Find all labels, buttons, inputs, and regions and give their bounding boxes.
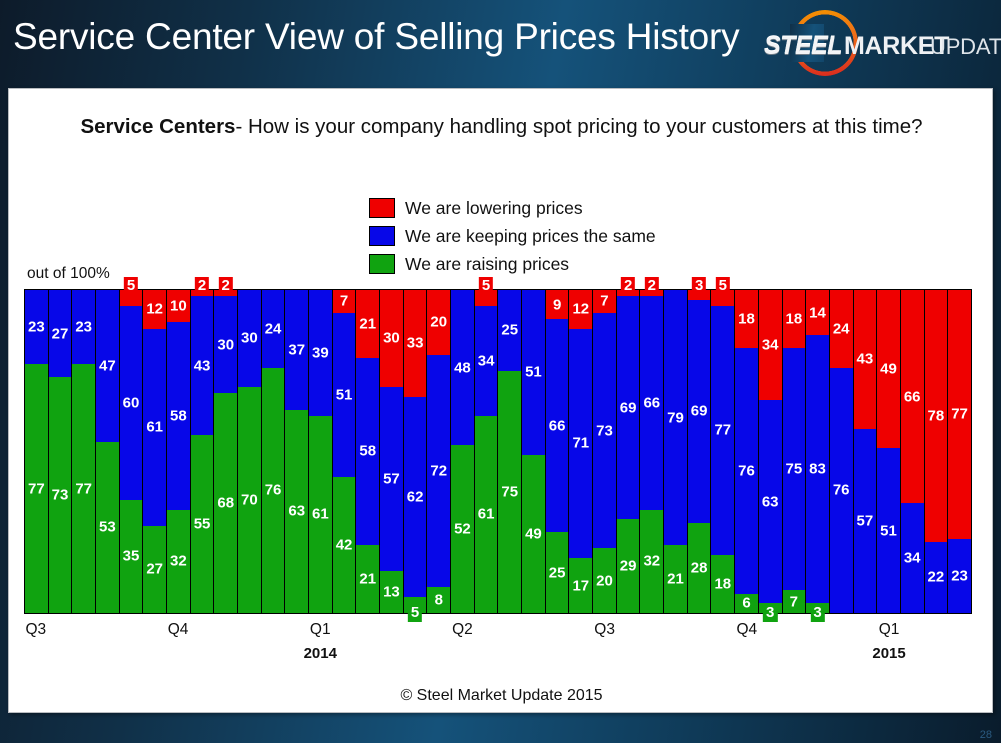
- bar-column[interactable]: 2377: [72, 290, 96, 613]
- bar-value-label: 73: [596, 423, 613, 438]
- bar-segment-raising: 77: [25, 364, 48, 613]
- bar-segment-raising: 70: [238, 387, 261, 613]
- logo-word-update: UPDATE: [930, 34, 1001, 60]
- bar-segment-raising: 52: [451, 445, 474, 613]
- bar-segment-keeping: 69: [688, 300, 711, 523]
- x-tick-quarter: Q4: [168, 621, 189, 639]
- stacked-bar-plot: 2377277323774753560351261271058322435523…: [24, 289, 972, 614]
- bar-segment-keeping: 23: [948, 539, 971, 613]
- bar-column[interactable]: 36928: [688, 290, 712, 613]
- bar-value-label: 77: [75, 481, 92, 496]
- bar-column[interactable]: 75142: [333, 290, 357, 613]
- bar-value-label: 25: [501, 323, 518, 338]
- bar-value-label: 30: [217, 337, 234, 352]
- bar-value-label: 23: [75, 320, 92, 335]
- bar-value-label: 27: [52, 326, 69, 341]
- bar-segment-raising: 13: [380, 571, 403, 613]
- bar-segment-keeping: 22: [925, 542, 948, 613]
- bar-value-label: 73: [52, 488, 69, 503]
- bar-segment-keeping: 57: [380, 387, 403, 571]
- bar-value-label: 3: [692, 277, 706, 295]
- bar-segment-keeping: 69: [617, 296, 640, 519]
- bar-segment-raising: 8: [427, 587, 450, 613]
- bar-column[interactable]: 2476: [262, 290, 286, 613]
- x-tick-quarter: Q1: [310, 621, 331, 639]
- bar-value-label: 57: [383, 471, 400, 486]
- bar-value-label: 76: [833, 483, 850, 498]
- bar-value-label: 34: [904, 551, 921, 566]
- bar-segment-lowering: 24: [830, 290, 853, 368]
- bar-segment-raising: 75: [498, 371, 521, 613]
- bar-segment-lowering: 30: [380, 290, 403, 387]
- bar-value-label: 39: [312, 345, 329, 360]
- bar-segment-keeping: 79: [664, 290, 687, 545]
- x-tick-year: 2015: [872, 645, 905, 662]
- bar-segment-raising: 61: [309, 416, 332, 613]
- bar-column[interactable]: 77320: [593, 290, 617, 613]
- bar-value-label: 55: [194, 517, 211, 532]
- bar-segment-lowering: 5: [711, 290, 734, 306]
- x-axis: Q3Q4Q12014Q2Q3Q4Q12015: [24, 621, 972, 679]
- bar-value-label: 5: [479, 277, 493, 295]
- bar-value-label: 30: [383, 331, 400, 346]
- bar-segment-keeping: 39: [309, 290, 332, 416]
- bar-segment-keeping: 34: [901, 503, 924, 613]
- bar-segment-raising: 6: [735, 594, 758, 613]
- bar-segment-keeping: 23: [25, 290, 48, 364]
- bar-column[interactable]: 2476: [830, 290, 854, 613]
- bar-value-label: 23: [28, 320, 45, 335]
- bar-segment-lowering: 33: [404, 290, 427, 397]
- bar-column[interactable]: 14833: [806, 290, 830, 613]
- bar-column[interactable]: 24355: [191, 290, 215, 613]
- bar-segment-keeping: 63: [759, 400, 782, 603]
- bar-value-label: 34: [478, 354, 495, 369]
- bar-value-label: 34: [762, 337, 779, 352]
- bar-value-label: 8: [435, 593, 443, 608]
- bar-column[interactable]: 18766: [735, 290, 759, 613]
- bar-value-label: 69: [620, 400, 637, 415]
- bar-value-label: 27: [146, 562, 163, 577]
- bar-value-label: 5: [124, 277, 138, 295]
- bar-value-label: 33: [407, 336, 424, 351]
- bar-segment-raising: 28: [688, 523, 711, 613]
- bar-column[interactable]: 4753: [96, 290, 120, 613]
- bar-segment-keeping: 71: [569, 329, 592, 558]
- bar-segment-keeping: 62: [404, 397, 427, 597]
- bar-value-label: 2: [645, 277, 659, 295]
- bar-segment-raising: 25: [546, 532, 569, 613]
- bar-segment-lowering: 18: [735, 290, 758, 348]
- bar-value-label: 75: [785, 462, 802, 477]
- bar-segment-keeping: 30: [238, 290, 261, 387]
- bar-segment-keeping: 57: [854, 429, 877, 613]
- bar-value-label: 66: [549, 418, 566, 433]
- page-number: 28: [980, 729, 992, 741]
- bar-segment-lowering: 20: [427, 290, 450, 355]
- bar-value-label: 60: [123, 396, 140, 411]
- bar-value-label: 49: [525, 526, 542, 541]
- bar-value-label: 43: [194, 358, 211, 373]
- bar-segment-raising: 32: [167, 510, 190, 613]
- copyright-text: © Steel Market Update 2015: [9, 687, 994, 705]
- bar-segment-lowering: 49: [877, 290, 900, 448]
- bar-segment-raising: 35: [120, 500, 143, 613]
- bar-value-label: 5: [408, 604, 422, 622]
- chart-legend: We are lowering pricesWe are keeping pri…: [369, 194, 656, 278]
- bar-column[interactable]: 5149: [522, 290, 546, 613]
- bar-column[interactable]: 7723: [948, 290, 971, 613]
- bar-value-label: 24: [265, 321, 282, 336]
- bar-segment-raising: 27: [143, 526, 166, 613]
- bar-segment-raising: 73: [49, 377, 72, 613]
- bar-segment-keeping: 51: [877, 448, 900, 613]
- bar-value-label: 76: [738, 463, 755, 478]
- bar-value-label: 32: [170, 554, 187, 569]
- bar-column[interactable]: 4951: [877, 290, 901, 613]
- bar-value-label: 2: [621, 277, 635, 295]
- bar-segment-keeping: 61: [143, 329, 166, 526]
- bar-segment-lowering: 78: [925, 290, 948, 542]
- x-tick-quarter: Q3: [26, 621, 47, 639]
- bar-value-label: 83: [809, 462, 826, 477]
- bar-column[interactable]: 34633: [759, 290, 783, 613]
- chart-card: Service Centers- How is your company han…: [8, 88, 993, 713]
- chart-question-emphasis: Service Centers: [80, 115, 235, 138]
- slide-header: Service Center View of Selling Prices Hi…: [0, 0, 1001, 86]
- bar-value-label: 18: [785, 312, 802, 327]
- bar-segment-lowering: 5: [475, 290, 498, 306]
- bar-segment-lowering: 34: [759, 290, 782, 400]
- bar-value-label: 13: [383, 584, 400, 599]
- bar-value-label: 58: [359, 444, 376, 459]
- bar-segment-keeping: 58: [356, 358, 379, 545]
- bar-column[interactable]: 26632: [640, 290, 664, 613]
- slide: Service Center View of Selling Prices Hi…: [0, 0, 1001, 743]
- bar-value-label: 12: [572, 302, 589, 317]
- legend-label-keeping: We are keeping prices the same: [405, 226, 656, 247]
- bar-segment-raising: 18: [711, 555, 734, 613]
- bar-segment-raising: 42: [333, 477, 356, 613]
- bar-value-label: 66: [904, 389, 921, 404]
- bar-segment-raising: 3: [806, 603, 829, 613]
- bar-value-label: 25: [549, 565, 566, 580]
- bar-value-label: 24: [833, 321, 850, 336]
- bar-segment-keeping: 73: [593, 313, 616, 549]
- bar-value-label: 51: [880, 523, 897, 538]
- bar-value-label: 20: [596, 573, 613, 588]
- bar-column[interactable]: 26929: [617, 290, 641, 613]
- bar-segment-raising: 76: [262, 368, 285, 613]
- bar-segment-keeping: 76: [735, 348, 758, 593]
- bar-segment-lowering: 77: [948, 290, 971, 539]
- bar-segment-keeping: 23: [72, 290, 95, 364]
- bar-column[interactable]: 2377: [25, 290, 49, 613]
- bar-segment-keeping: 48: [451, 290, 474, 445]
- chart-question: Service Centers- How is your company han…: [9, 113, 994, 141]
- bar-value-label: 63: [288, 504, 305, 519]
- bar-value-label: 7: [790, 594, 798, 609]
- bar-value-label: 28: [691, 560, 708, 575]
- bar-segment-raising: 17: [569, 558, 592, 613]
- bar-value-label: 52: [454, 522, 471, 537]
- bar-column[interactable]: 57718: [711, 290, 735, 613]
- bar-value-label: 42: [336, 538, 353, 553]
- bar-value-label: 48: [454, 360, 471, 375]
- steel-market-update-logo: STEEL MARKET UPDATE: [764, 4, 1000, 82]
- bar-value-label: 5: [716, 277, 730, 295]
- bar-value-label: 18: [714, 576, 731, 591]
- bar-segment-lowering: 12: [569, 290, 592, 329]
- bar-value-label: 20: [430, 315, 447, 330]
- bar-segment-lowering: 43: [854, 290, 877, 429]
- bar-value-label: 71: [572, 436, 589, 451]
- bar-segment-lowering: 3: [688, 290, 711, 300]
- bar-value-label: 3: [810, 604, 824, 622]
- bar-value-label: 6: [742, 596, 750, 611]
- bar-value-label: 35: [123, 549, 140, 564]
- bar-segment-keeping: 51: [522, 290, 545, 455]
- bar-segment-raising: 21: [664, 545, 687, 613]
- bar-segment-raising: 3: [759, 603, 782, 613]
- x-tick-quarter: Q1: [879, 621, 900, 639]
- legend-label-lowering: We are lowering prices: [405, 198, 583, 219]
- bar-value-label: 9: [553, 297, 561, 312]
- bar-value-label: 29: [620, 559, 637, 574]
- bar-segment-keeping: 58: [167, 322, 190, 509]
- bar-segment-lowering: 7: [333, 290, 356, 313]
- x-tick-quarter: Q3: [594, 621, 615, 639]
- bar-value-label: 30: [241, 331, 258, 346]
- legend-item-raising[interactable]: We are raising prices: [369, 250, 656, 278]
- bar-segment-lowering: 21: [356, 290, 379, 358]
- logo-word-steel: STEEL: [764, 32, 842, 61]
- bar-segment-keeping: 43: [191, 296, 214, 435]
- legend-item-lowering[interactable]: We are lowering prices: [369, 194, 656, 222]
- bar-segment-keeping: 47: [96, 290, 119, 442]
- bar-segment-keeping: 76: [830, 368, 853, 613]
- bar-segment-keeping: 37: [285, 290, 308, 410]
- bar-value-label: 43: [857, 352, 874, 367]
- bar-column[interactable]: 2575: [498, 290, 522, 613]
- bar-segment-lowering: 7: [593, 290, 616, 313]
- legend-item-keeping[interactable]: We are keeping prices the same: [369, 222, 656, 250]
- bar-column[interactable]: 7921: [664, 290, 688, 613]
- bar-segment-raising: 53: [96, 442, 119, 613]
- bar-value-label: 57: [857, 513, 874, 528]
- bar-value-label: 79: [667, 410, 684, 425]
- legend-swatch-raising: [369, 254, 395, 274]
- bar-column[interactable]: 6634: [901, 290, 925, 613]
- bar-value-label: 77: [714, 423, 731, 438]
- bar-segment-keeping: 77: [711, 306, 734, 555]
- bar-value-label: 77: [951, 407, 968, 422]
- bar-segment-keeping: 75: [783, 348, 806, 590]
- bar-column[interactable]: 3070: [238, 290, 262, 613]
- bar-segment-lowering: 14: [806, 290, 829, 335]
- bar-column[interactable]: 7822: [925, 290, 949, 613]
- bar-segment-raising: 29: [617, 519, 640, 613]
- bar-column[interactable]: 127117: [569, 290, 593, 613]
- bar-column[interactable]: 3961: [309, 290, 333, 613]
- bar-column[interactable]: 23068: [214, 290, 238, 613]
- bar-column[interactable]: 96625: [546, 290, 570, 613]
- bar-column[interactable]: 56035: [120, 290, 144, 613]
- bar-value-label: 61: [146, 420, 163, 435]
- bar-segment-raising: 55: [191, 435, 214, 613]
- bar-column[interactable]: 305713: [380, 290, 404, 613]
- bar-column[interactable]: 3763: [285, 290, 309, 613]
- bar-value-label: 61: [478, 507, 495, 522]
- y-axis-note: out of 100%: [27, 265, 110, 283]
- bar-segment-keeping: 66: [546, 319, 569, 532]
- bar-value-label: 47: [99, 358, 116, 373]
- legend-label-raising: We are raising prices: [405, 254, 569, 275]
- bar-value-label: 63: [762, 494, 779, 509]
- bar-value-label: 76: [265, 483, 282, 498]
- bar-value-label: 14: [809, 305, 826, 320]
- bar-column[interactable]: 215821: [356, 290, 380, 613]
- bar-value-label: 72: [430, 463, 447, 478]
- bar-value-label: 62: [407, 489, 424, 504]
- bar-column[interactable]: 53461: [475, 290, 499, 613]
- bar-segment-lowering: 18: [783, 290, 806, 348]
- bar-segment-raising: 77: [72, 364, 95, 613]
- x-tick-quarter: Q2: [452, 621, 473, 639]
- bar-value-label: 51: [525, 365, 542, 380]
- bar-segment-raising: 49: [522, 455, 545, 613]
- bar-segment-raising: 7: [783, 590, 806, 613]
- bar-segment-raising: 63: [285, 410, 308, 613]
- bar-segment-raising: 68: [214, 393, 237, 613]
- bar-value-label: 23: [951, 568, 968, 583]
- bar-segment-keeping: 27: [49, 290, 72, 377]
- bar-value-label: 18: [738, 312, 755, 327]
- bar-segment-raising: 32: [640, 510, 663, 613]
- bar-segment-keeping: 66: [640, 296, 663, 509]
- bar-segment-keeping: 72: [427, 355, 450, 588]
- bar-column[interactable]: 105832: [167, 290, 191, 613]
- bar-value-label: 69: [691, 404, 708, 419]
- legend-swatch-keeping: [369, 226, 395, 246]
- bar-column[interactable]: 20728: [427, 290, 451, 613]
- bar-segment-keeping: 60: [120, 306, 143, 500]
- x-tick-year: 2014: [304, 645, 337, 662]
- bar-value-label: 21: [359, 572, 376, 587]
- bar-value-label: 53: [99, 520, 116, 535]
- bar-value-label: 78: [928, 408, 945, 423]
- bar-value-label: 61: [312, 507, 329, 522]
- bar-value-label: 68: [217, 496, 234, 511]
- bar-value-label: 3: [763, 604, 777, 622]
- bar-value-label: 21: [667, 572, 684, 587]
- bar-value-label: 70: [241, 492, 258, 507]
- bar-value-label: 66: [643, 396, 660, 411]
- bar-value-label: 7: [340, 294, 348, 309]
- bar-segment-lowering: 12: [143, 290, 166, 329]
- bar-value-label: 10: [170, 299, 187, 314]
- legend-swatch-lowering: [369, 198, 395, 218]
- bar-value-label: 21: [359, 316, 376, 331]
- bar-value-label: 75: [501, 484, 518, 499]
- bar-column[interactable]: 2773: [49, 290, 73, 613]
- bar-segment-keeping: 25: [498, 290, 521, 371]
- bar-column[interactable]: 4852: [451, 290, 475, 613]
- bar-column[interactable]: 18757: [783, 290, 807, 613]
- bar-segment-raising: 20: [593, 548, 616, 613]
- bar-segment-raising: 5: [404, 597, 427, 613]
- bar-column[interactable]: 4357: [854, 290, 878, 613]
- x-tick-quarter: Q4: [737, 621, 758, 639]
- bar-segment-lowering: 66: [901, 290, 924, 503]
- bar-segment-keeping: 30: [214, 296, 237, 393]
- bar-segment-raising: 21: [356, 545, 379, 613]
- bar-segment-keeping: 51: [333, 313, 356, 478]
- page-title: Service Center View of Selling Prices Hi…: [13, 16, 739, 58]
- bar-value-label: 12: [146, 302, 163, 317]
- chart-question-rest: - How is your company handling spot pric…: [235, 115, 922, 138]
- bar-column[interactable]: 33625: [404, 290, 428, 613]
- bar-column[interactable]: 126127: [143, 290, 167, 613]
- bar-segment-keeping: 34: [475, 306, 498, 416]
- bar-value-label: 22: [928, 570, 945, 585]
- bar-value-label: 51: [336, 387, 353, 402]
- bar-segment-lowering: 10: [167, 290, 190, 322]
- bar-segment-keeping: 83: [806, 335, 829, 603]
- bar-segment-keeping: 24: [262, 290, 285, 368]
- bar-segment-raising: 61: [475, 416, 498, 613]
- bar-value-label: 32: [643, 554, 660, 569]
- bar-value-label: 49: [880, 362, 897, 377]
- bar-value-label: 58: [170, 408, 187, 423]
- bar-segment-lowering: 5: [120, 290, 143, 306]
- bar-value-label: 17: [572, 578, 589, 593]
- bar-segment-lowering: 9: [546, 290, 569, 319]
- bar-value-label: 2: [219, 277, 233, 295]
- bar-value-label: 77: [28, 481, 45, 496]
- bar-value-label: 7: [600, 294, 608, 309]
- bar-value-label: 37: [288, 342, 305, 357]
- bar-value-label: 2: [195, 277, 209, 295]
